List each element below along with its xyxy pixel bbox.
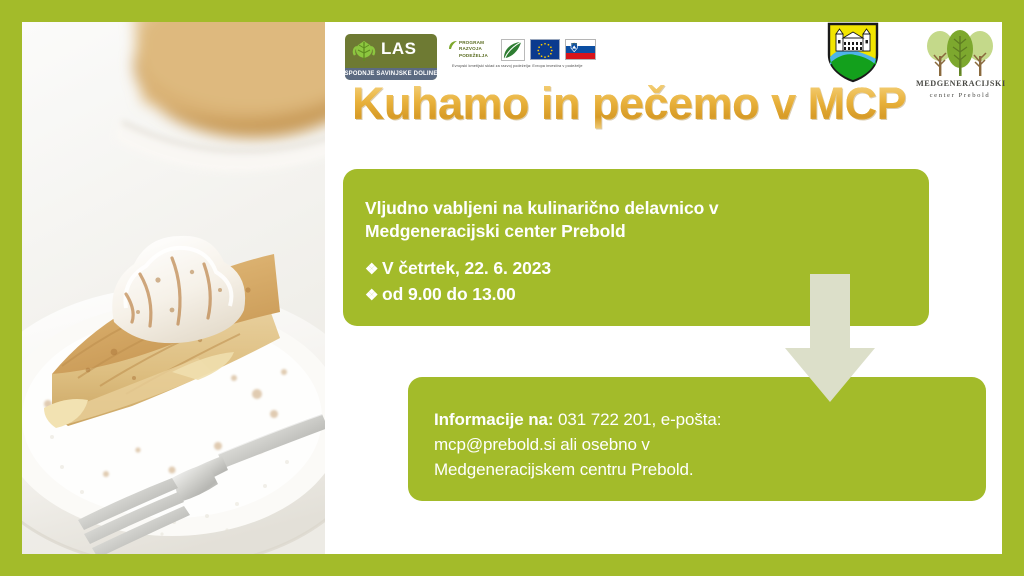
contact-info-line3: Medgeneracijskem centru Prebold. xyxy=(434,457,960,482)
bullet-text: V četrtek, 22. 6. 2023 xyxy=(382,256,551,281)
program-label: PROGRAM RAZVOJA PODEŽELJA xyxy=(459,40,488,59)
invitation-lead-line2: Medgeneracijski center Prebold xyxy=(365,220,903,243)
leaf-icon xyxy=(351,39,377,65)
bullet-diamond-icon: ❖ xyxy=(365,257,382,282)
contact-info-box: Informacije na: 031 722 201, e-pošta: mc… xyxy=(408,377,986,501)
eu-program-logos: PROGRAM RAZVOJA PODEŽELJA xyxy=(448,36,596,78)
coat-of-arms-shield xyxy=(826,21,880,83)
leader-leaf-icon xyxy=(502,40,524,60)
down-arrow-icon xyxy=(780,274,880,404)
contact-info-label: Informacije na: xyxy=(434,410,553,429)
leader-mark-icon xyxy=(501,39,525,61)
slovenia-flag-icon xyxy=(565,39,596,60)
swoosh-icon xyxy=(448,40,458,50)
bullet-diamond-icon: ❖ xyxy=(365,283,382,308)
poster-root: LAS SPODNJE SAVINJSKE DOLINE PROGRAM RAZ… xyxy=(0,0,1024,576)
eu-funding-caption: Evropski kmetijski sklad za razvoj podež… xyxy=(452,64,602,68)
las-logo-name: LAS xyxy=(381,39,417,59)
program-razvoja-podezelja-logo: PROGRAM RAZVOJA PODEŽELJA xyxy=(448,38,500,64)
slovenia-emblem-icon xyxy=(566,40,595,59)
prebold-coat-of-arms-icon xyxy=(826,21,880,83)
invitation-lead: Vljudno vabljeni na kulinarično delavnic… xyxy=(365,197,903,243)
eu-stars xyxy=(531,40,559,59)
eu-flag-icon xyxy=(530,39,560,60)
contact-info-line2: mcp@prebold.si ali osebno v xyxy=(434,432,960,457)
las-logo: LAS SPODNJE SAVINJSKE DOLINE xyxy=(345,34,437,80)
invitation-lead-line1: Vljudno vabljeni na kulinarično delavnic… xyxy=(365,197,903,220)
cake-photo xyxy=(22,22,325,554)
contact-info-text: Informacije na: 031 722 201, e-pošta: mc… xyxy=(434,407,960,482)
bullet-text: od 9.00 do 13.00 xyxy=(382,282,516,307)
contact-info-line1: Informacije na: 031 722 201, e-pošta: xyxy=(434,407,960,432)
page-title-outline: Kuhamo in pečemo v MCP xyxy=(352,78,952,130)
program-label-line3: PODEŽELJA xyxy=(459,53,488,59)
cake-photo-illustration xyxy=(22,22,325,554)
three-trees-icon xyxy=(926,26,994,78)
contact-info-phone-email: 031 722 201, e-pošta: xyxy=(553,410,721,429)
